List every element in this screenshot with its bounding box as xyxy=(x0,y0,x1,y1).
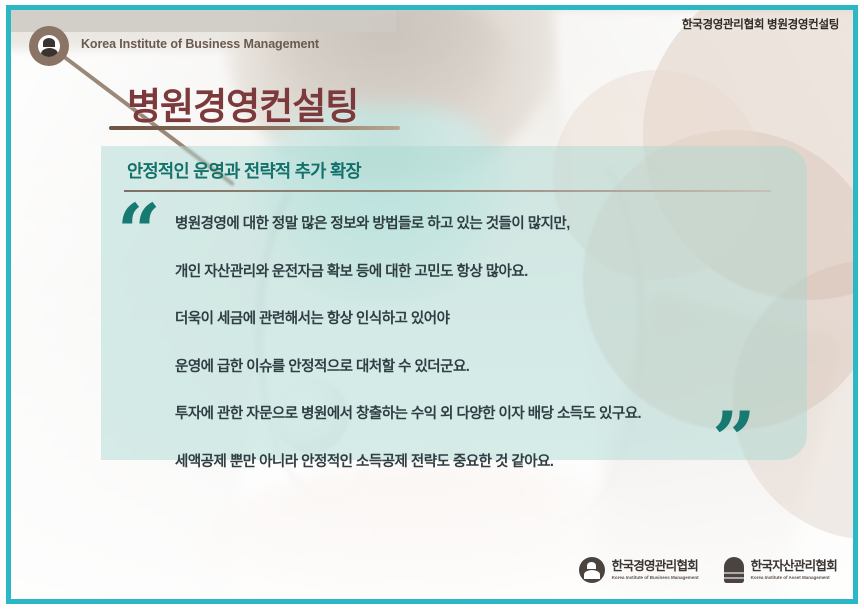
header-panel xyxy=(11,10,396,32)
quote-line: 투자에 관한 자문으로 병원에서 창출하는 수익 외 다양한 이자 배당 소득도… xyxy=(175,402,795,423)
quote-open-icon: “ xyxy=(117,194,161,270)
footer-logo-asset: 한국자산관리협회 Korea Institute of Asset Manage… xyxy=(721,557,837,583)
quote-card: 안정적인 운영과 전략적 추가 확장 “ 병원경영에 대한 정말 많은 정보와 … xyxy=(101,146,807,460)
subtitle-rule xyxy=(124,190,771,192)
quote-line: 병원경영에 대한 정말 많은 정보와 방법들로 하고 있는 것들이 많지만, xyxy=(175,212,795,233)
page-title: 병원경영컨설팅 xyxy=(127,76,358,130)
footer-logos: 한국경영관리협회 Korea Institute of Business Man… xyxy=(579,557,837,583)
quote-line: 더욱이 세금에 관련해서는 항상 인식하고 있어야 xyxy=(175,307,795,328)
bell-safe-mark-icon xyxy=(724,557,744,583)
card-subtitle: 안정적인 운영과 전략적 추가 확장 xyxy=(127,158,361,183)
quote-line: 세액공제 뿐만 아니라 안정적인 소득공제 전략도 중요한 것 같아요. xyxy=(175,450,795,471)
footer-logo-text: 한국경영관리협회 Korea Institute of Business Man… xyxy=(612,560,699,581)
circle-person-mark-icon xyxy=(579,557,605,583)
footer-logo-text: 한국자산관리협회 Korea Institute of Asset Manage… xyxy=(751,560,837,581)
footer-logo-business: 한국경영관리협회 Korea Institute of Business Man… xyxy=(579,557,699,583)
magnifier-person-logo-icon xyxy=(29,26,69,66)
header-right-label: 한국경영관리협회 병원경영컨설팅 xyxy=(682,16,839,32)
brand-name-label: Korea Institute of Business Management xyxy=(81,37,319,51)
footer-logo-name-en: Korea Institute of Business Management xyxy=(612,575,699,580)
quote-line: 운영에 급한 이슈를 안정적으로 대처할 수 있더군요. xyxy=(175,355,795,376)
slide-root: 한국경영관리협회 병원경영컨설팅 Korea Institute of Busi… xyxy=(0,0,864,610)
footer-logo-name-ko: 한국자산관리협회 xyxy=(751,560,837,574)
quote-line: 개인 자산관리와 운전자금 확보 등에 대한 고민도 항상 많아요. xyxy=(175,260,795,281)
slide-frame: 한국경영관리협회 병원경영컨설팅 Korea Institute of Busi… xyxy=(6,5,858,604)
footer-logo-name-ko: 한국경영관리협회 xyxy=(612,560,699,574)
quote-lines: 병원경영에 대한 정말 많은 정보와 방법들로 하고 있는 것들이 많지만, 개… xyxy=(175,212,795,471)
person-glyph xyxy=(38,35,60,57)
footer-logo-name-en: Korea Institute of Asset Management xyxy=(751,575,837,580)
quote-close-icon: ” xyxy=(712,402,756,478)
